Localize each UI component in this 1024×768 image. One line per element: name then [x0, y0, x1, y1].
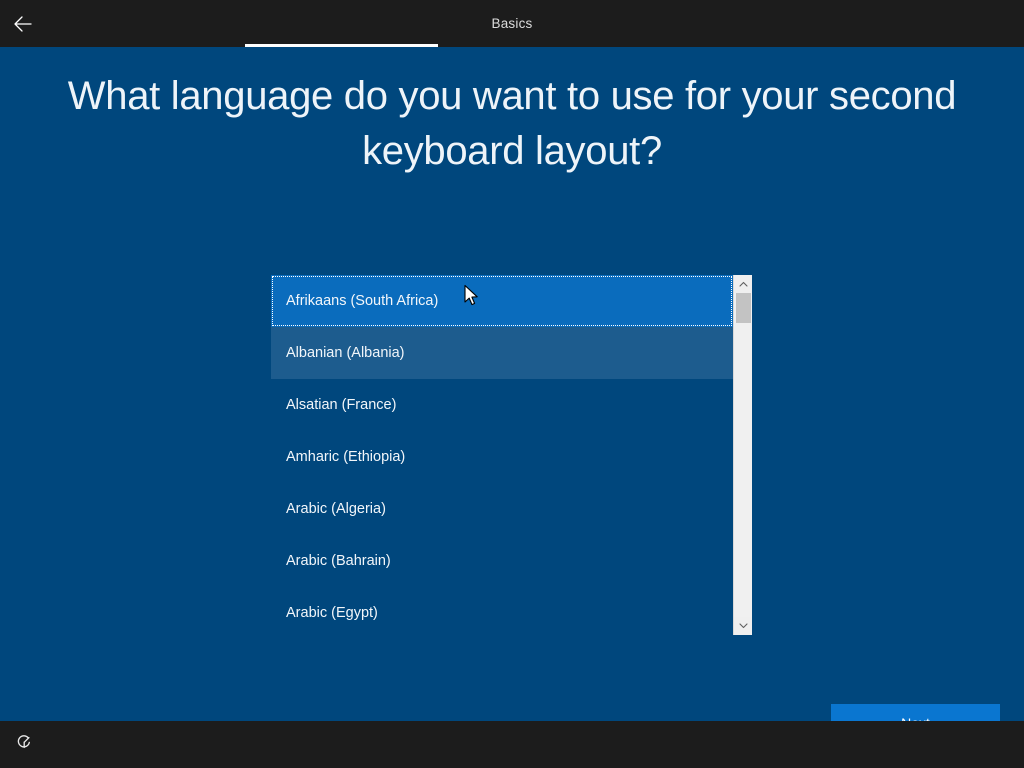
chevron-down-icon: [739, 623, 748, 629]
list-item-label: Arabic (Egypt): [286, 605, 378, 621]
list-item-label: Arabic (Bahrain): [286, 553, 391, 569]
main-content: What language do you want to use for you…: [0, 47, 1024, 721]
page-title: What language do you want to use for you…: [62, 69, 962, 179]
list-item[interactable]: Amharic (Ethiopia): [271, 431, 733, 483]
list-item-label: Arabic (Algeria): [286, 501, 386, 517]
list-item[interactable]: Albanian (Albania): [271, 327, 733, 379]
list-item[interactable]: Arabic (Algeria): [271, 483, 733, 535]
chevron-up-icon: [739, 281, 748, 287]
listbox-scrollbar[interactable]: [733, 275, 752, 635]
list-item[interactable]: Arabic (Egypt): [271, 587, 733, 635]
ease-of-access-icon: [14, 732, 34, 757]
list-item-label: Alsatian (France): [286, 397, 396, 413]
bottom-bar: [0, 721, 1024, 768]
back-arrow-icon: [11, 12, 35, 36]
language-list: Afrikaans (South Africa) Albanian (Alban…: [271, 275, 733, 635]
scrollbar-thumb[interactable]: [736, 293, 751, 323]
scroll-up-button[interactable]: [734, 275, 752, 293]
list-item[interactable]: Alsatian (France): [271, 379, 733, 431]
list-item-label: Albanian (Albania): [286, 345, 405, 361]
back-button[interactable]: [0, 0, 46, 47]
scrollbar-track[interactable]: [734, 293, 752, 617]
ease-of-access-button[interactable]: [0, 721, 48, 768]
language-listbox[interactable]: Afrikaans (South Africa) Albanian (Alban…: [271, 275, 752, 635]
scroll-down-button[interactable]: [734, 617, 752, 635]
list-item[interactable]: Afrikaans (South Africa): [271, 275, 733, 327]
tab-basics-label: Basics: [492, 16, 533, 31]
list-item-label: Afrikaans (South Africa): [286, 293, 438, 309]
list-item-label: Amharic (Ethiopia): [286, 449, 405, 465]
list-item[interactable]: Arabic (Bahrain): [271, 535, 733, 587]
tab-basics[interactable]: Basics: [476, 0, 549, 47]
